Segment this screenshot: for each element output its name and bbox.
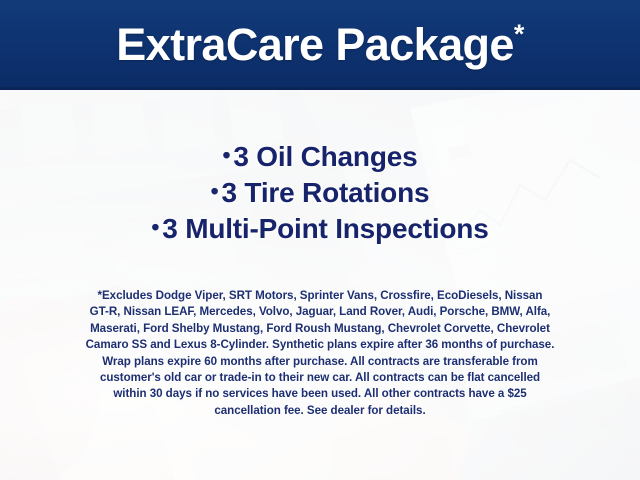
list-item: •3 Tire Rotations [0,174,640,210]
disclaimer-line: Camaro SS and Lexus 8-Cylinder. Syntheti… [28,337,612,353]
bullet-dot-icon: • [223,142,231,168]
benefit-label: 3 Multi-Point Inspections [162,213,488,244]
list-item: •3 Multi-Point Inspections [0,210,640,246]
disclaimer-line: customer's old car or trade-in to their … [28,370,612,386]
page-title-text: ExtraCare Package [116,19,514,70]
benefit-label: 3 Tire Rotations [221,177,429,208]
benefit-label: 3 Oil Changes [233,141,417,172]
bullet-dot-icon: • [211,178,219,204]
disclaimer-line: cancellation fee. See dealer for details… [28,403,612,419]
disclaimer-line: GT-R, Nissan LEAF, Mercedes, Volvo, Jagu… [28,304,612,320]
page-title: ExtraCare Package* [116,21,524,67]
bullet-dot-icon: • [151,214,159,240]
list-item: •3 Oil Changes [0,138,640,174]
header-band: ExtraCare Package* [0,0,640,90]
disclaimer-line: Wrap plans expire 60 months after purcha… [28,354,612,370]
disclaimer-line: *Excludes Dodge Viper, SRT Motors, Sprin… [28,288,612,304]
page-title-asterisk: * [514,19,524,49]
benefits-list: •3 Oil Changes •3 Tire Rotations •3 Mult… [0,138,640,246]
extracare-package-ad: ExtraCare Package* •3 Oil Changes •3 Tir… [0,0,640,480]
disclaimer-text: *Excludes Dodge Viper, SRT Motors, Sprin… [28,288,612,419]
disclaimer-line: within 30 days if no services have been … [28,386,612,402]
disclaimer-line: Maserati, Ford Shelby Mustang, Ford Rous… [28,321,612,337]
